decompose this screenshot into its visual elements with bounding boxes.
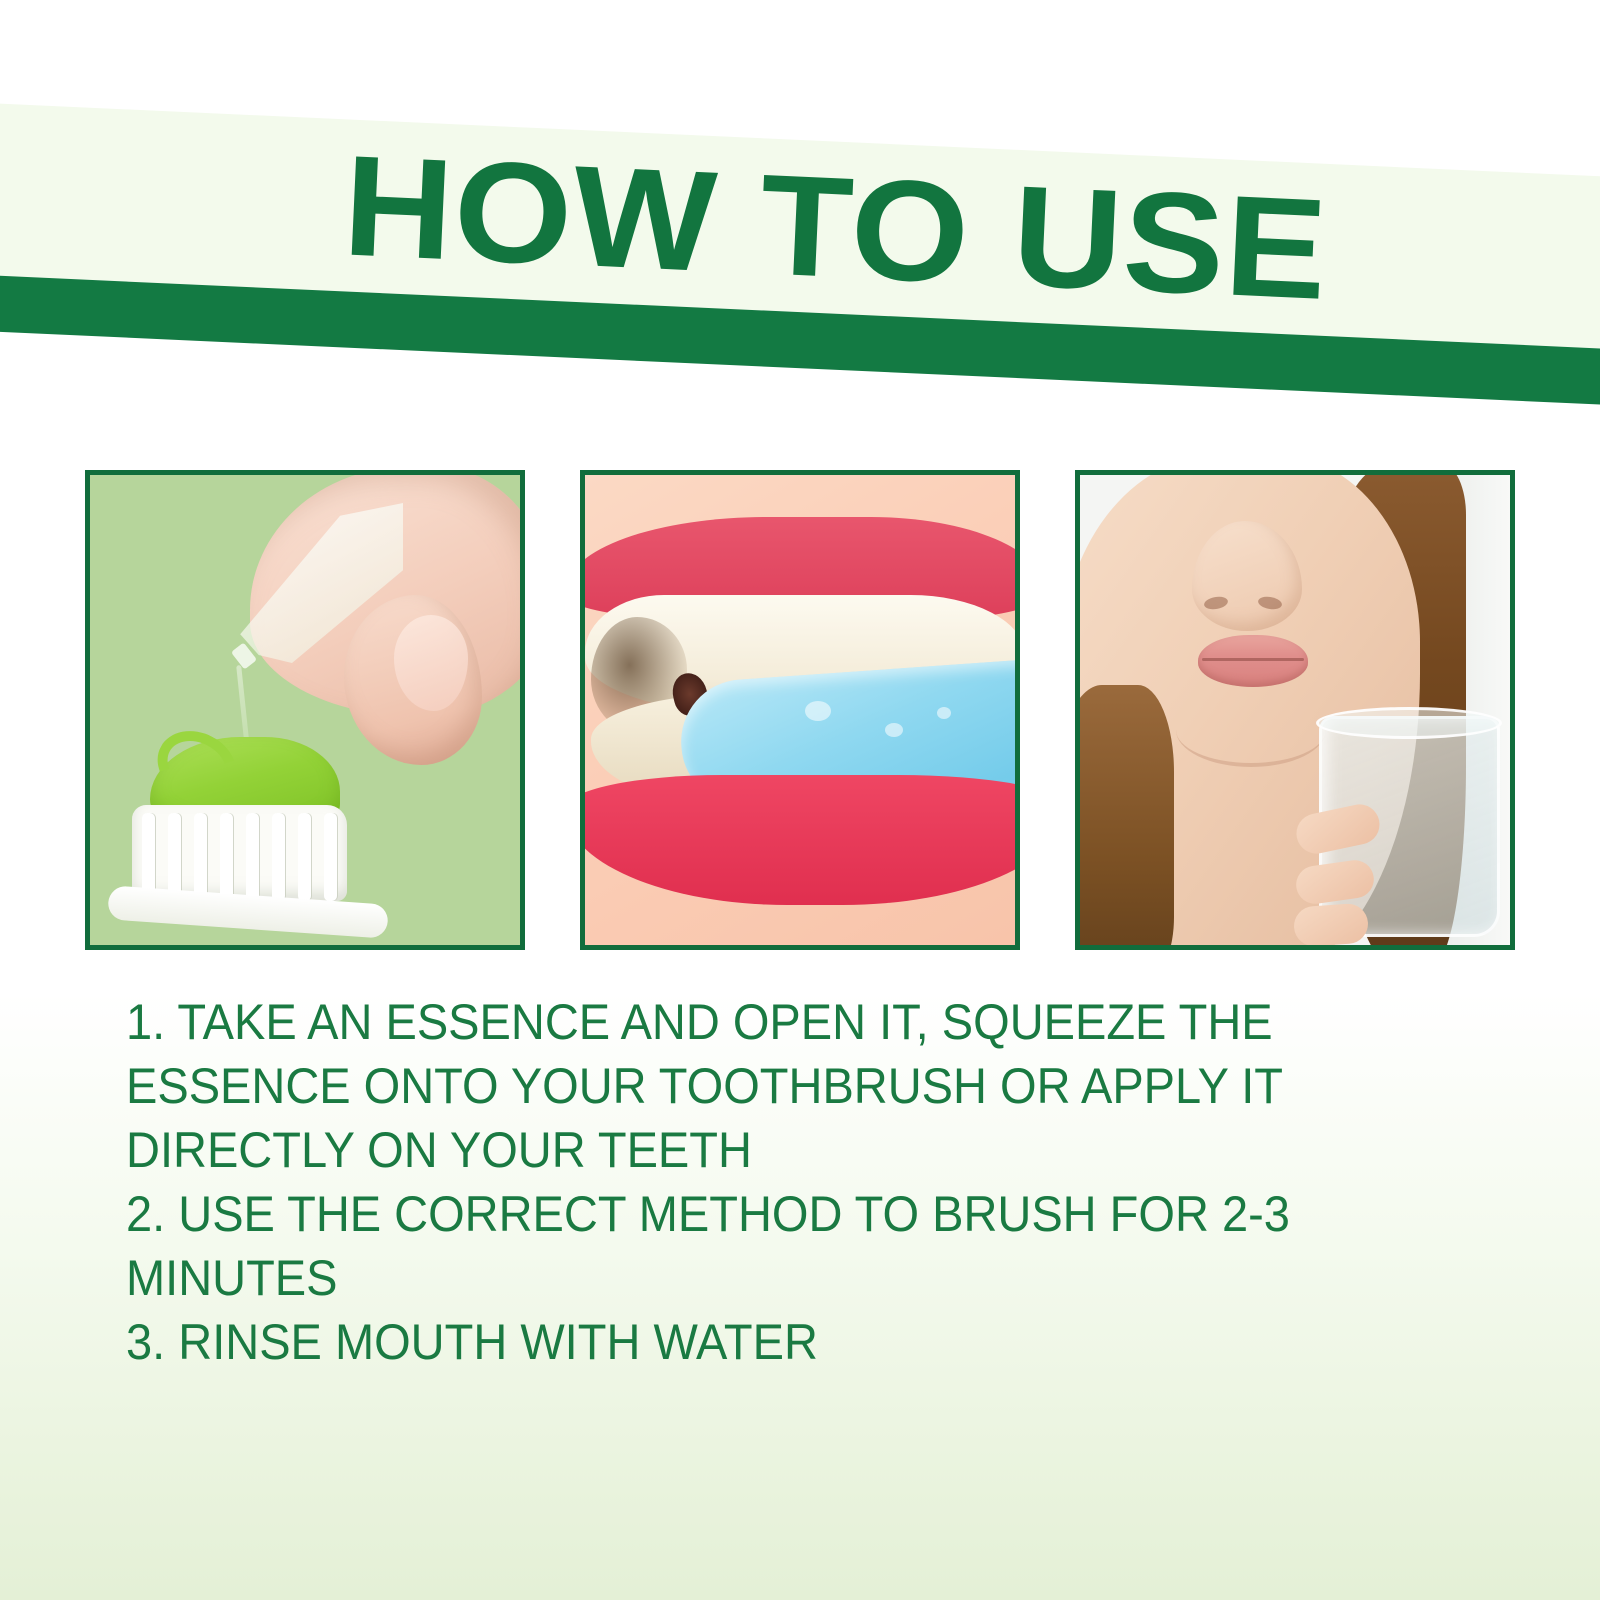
glass-rim-shape — [1316, 707, 1502, 739]
steps-gallery — [85, 470, 1515, 950]
bristle — [272, 813, 285, 901]
instruction-step-2: 2. USE THE CORRECT METHOD TO BRUSH FOR 2… — [126, 1182, 1348, 1310]
foam-bubble — [937, 707, 951, 719]
step-image-brushing-teeth-closeup — [580, 470, 1020, 950]
lower-lip-shape — [580, 775, 1020, 905]
bristle — [298, 813, 311, 901]
bristle — [246, 813, 259, 901]
bristle — [194, 813, 207, 901]
how-to-use-poster: HOW TO USE — [0, 0, 1600, 1600]
foam-bubble — [885, 723, 903, 737]
tile-1-scene — [90, 475, 520, 945]
toothbrush-head — [132, 805, 347, 901]
header-banner: HOW TO USE — [0, 100, 1600, 409]
bristle — [324, 813, 337, 901]
instruction-step-3: 3. RINSE MOUTH WITH WATER — [126, 1310, 1348, 1374]
lip-line-shape — [1202, 658, 1304, 661]
bristle — [220, 813, 233, 901]
hair-left-shape — [1075, 685, 1174, 950]
pursed-lips-shape — [1198, 635, 1308, 687]
cheek-fold-shape — [1176, 693, 1326, 767]
foam-bubble — [805, 701, 831, 721]
tile-2-scene — [585, 475, 1015, 945]
instructions-list: 1. TAKE AN ESSENCE AND OPEN IT, SQUEEZE … — [126, 990, 1348, 1374]
page-title: HOW TO USE — [340, 134, 1330, 322]
step-image-rinsing-mouth-with-water — [1075, 470, 1515, 950]
step-image-essence-on-toothbrush — [85, 470, 525, 950]
finger-shape — [1293, 902, 1370, 947]
tile-3-scene — [1080, 475, 1510, 945]
instruction-step-1: 1. TAKE AN ESSENCE AND OPEN IT, SQUEEZE … — [126, 990, 1348, 1182]
bristle — [168, 813, 181, 901]
